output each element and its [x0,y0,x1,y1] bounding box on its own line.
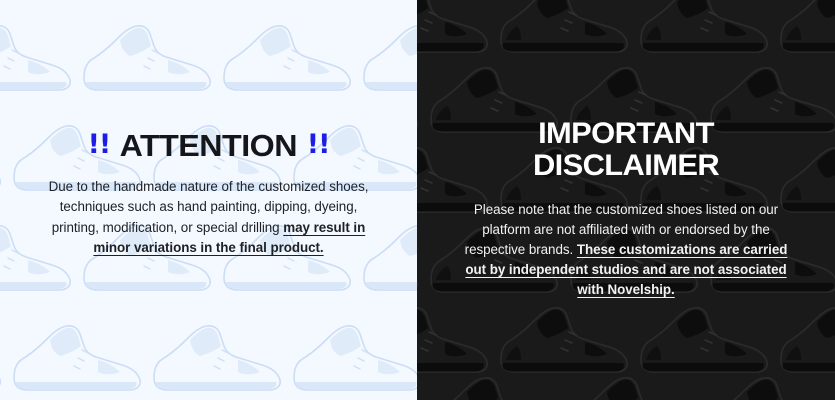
disclaimer-panel: IMPORTANT DISCLAIMER Please note that th… [417,0,835,400]
attention-heading-word: ATTENTION [120,130,297,161]
disclaimer-heading: IMPORTANT DISCLAIMER [453,118,799,182]
disclaimer-heading-line-1: IMPORTANT [448,118,804,150]
attention-bang-right-icon: !! [307,131,330,158]
customization-notice-banner: !! ATTENTION !! Due to the handmade natu… [0,0,835,400]
disclaimer-body: Please note that the customized shoes li… [453,200,799,301]
attention-bang-left-icon: !! [88,131,111,158]
attention-body: Due to the handmade nature of the custom… [44,177,373,259]
disclaimer-content: IMPORTANT DISCLAIMER Please note that th… [417,0,835,300]
attention-panel: !! ATTENTION !! Due to the handmade natu… [0,0,417,400]
attention-content: !! ATTENTION !! Due to the handmade natu… [0,0,417,259]
disclaimer-heading-line-2: DISCLAIMER [448,150,804,182]
attention-heading: !! ATTENTION !! [44,130,373,161]
